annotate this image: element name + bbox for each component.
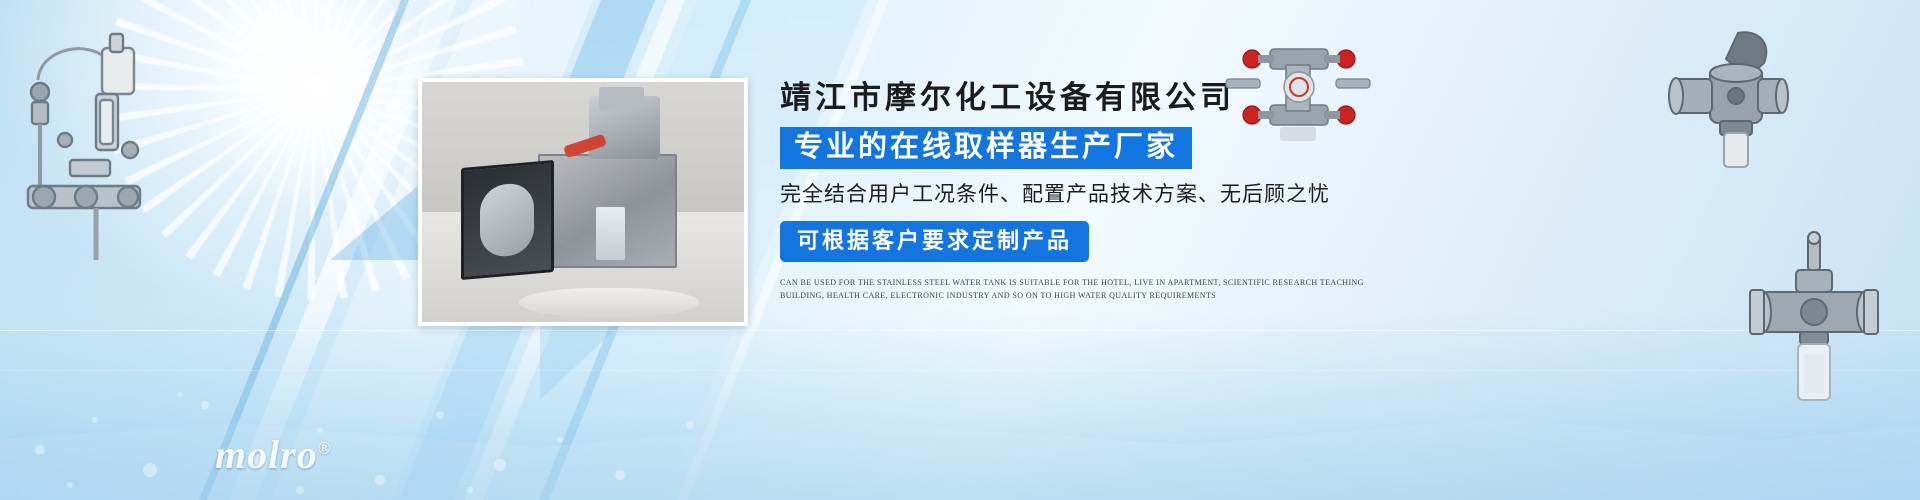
- custom-product-badge: 可根据客户要求定制产品: [780, 221, 1089, 262]
- promo-banner: 靖江市摩尔化工设备有限公司 专业的在线取样器生产厂家 完全结合用户工况条件、配置…: [0, 0, 1920, 500]
- inline-sampler-valve-icon: [1740, 230, 1890, 410]
- tee-body-valve-icon: [1640, 25, 1790, 175]
- sampler-assembly-left-icon: [10, 20, 180, 270]
- english-description: CAN BE USED FOR THE STAINLESS STEEL WATE…: [780, 276, 1380, 302]
- logo-text: molro: [215, 432, 318, 477]
- registered-mark-icon: ®: [318, 439, 332, 458]
- christmas-tree-valve-manifold-icon: [1218, 35, 1378, 145]
- watermark-logo: molro®: [215, 431, 332, 478]
- water-droplets: [0, 300, 760, 500]
- tagline-badge: 专业的在线取样器生产厂家: [780, 127, 1192, 169]
- subline-text: 完全结合用户工况条件、配置产品技术方案、无后顾之忧: [780, 182, 1400, 208]
- product-photo: [418, 78, 748, 326]
